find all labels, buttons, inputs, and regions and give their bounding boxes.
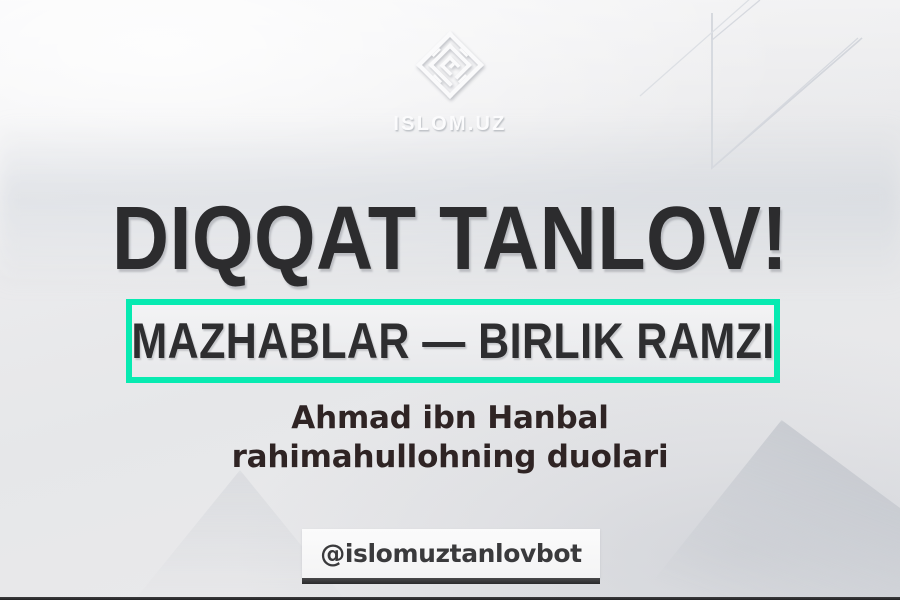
bot-handle-underline xyxy=(302,578,600,584)
page-title: DIQQAT TANLOV! xyxy=(54,196,846,282)
highlight-banner-text: MAZHABLAR — BIRLIK RAMZI xyxy=(131,312,774,370)
description-line-1: Ahmad ibn Hanbal xyxy=(0,399,900,438)
brand-logo: ISLOM.UZ xyxy=(0,22,900,136)
poster-canvas: ISLOM.UZ DIQQAT TANLOV! MAZHABLAR — BIRL… xyxy=(0,0,900,600)
bot-handle-text: @islomuztanlovbot xyxy=(320,539,581,568)
description-block: Ahmad ibn Hanbal rahimahullohning duolar… xyxy=(0,399,900,477)
description-line-2: rahimahullohning duolari xyxy=(0,438,900,477)
highlight-banner: MAZHABLAR — BIRLIK RAMZI xyxy=(126,299,780,383)
kufic-calligraphy-diamond-icon xyxy=(407,22,493,108)
brand-wordmark: ISLOM.UZ xyxy=(393,113,506,136)
bot-handle-plate[interactable]: @islomuztanlovbot xyxy=(302,529,600,578)
